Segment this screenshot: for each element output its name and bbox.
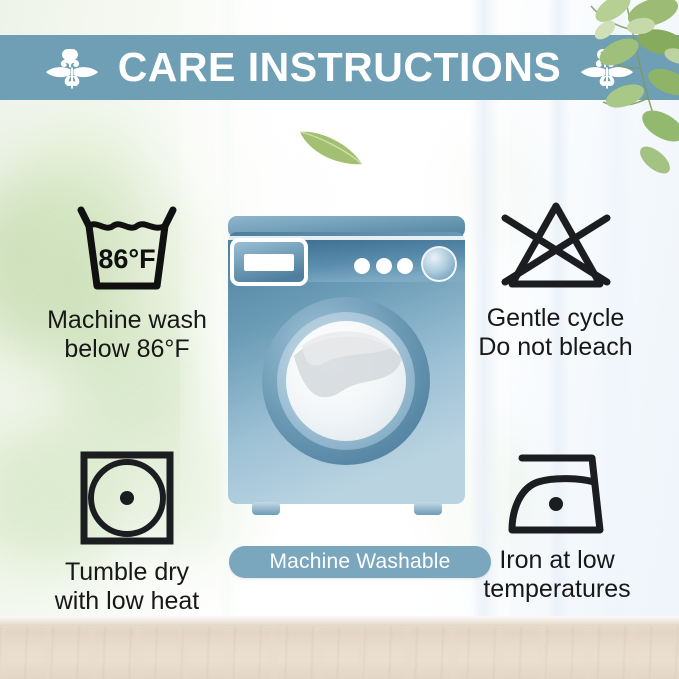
- badge-label: Machine Washable: [269, 550, 450, 574]
- table-edge-highlight: [0, 616, 679, 626]
- detergent-drawer-slot: [244, 254, 294, 271]
- indicator-light: [397, 258, 413, 274]
- machine-wash-symbol-wrapper: 86°F: [22, 196, 232, 296]
- care-symbol-iron-low: Iron at low temperatures: [448, 448, 666, 604]
- care-symbol-tumble-dry: Tumble dry with low heat: [22, 448, 232, 616]
- bleach-symbol-wrapper: [448, 196, 663, 296]
- tumble-dry-square-circle-icon: [77, 448, 177, 548]
- wood-grain-texture: [0, 626, 679, 679]
- bleach-caption: Gentle cycle Do not bleach: [448, 304, 663, 362]
- floating-leaf-decoration-icon: [296, 122, 366, 170]
- tumble-dry-caption: Tumble dry with low heat: [22, 558, 232, 616]
- wash-basin-icon: 86°F: [67, 196, 187, 296]
- washer-foot: [252, 502, 280, 515]
- indicator-light: [354, 258, 370, 274]
- care-instructions-graphic: CARE INSTRUCTIONS: [0, 0, 679, 679]
- tumble-dry-symbol-wrapper: [22, 448, 232, 548]
- iron-symbol-wrapper: [448, 448, 666, 540]
- washer-foot: [414, 502, 442, 515]
- page-title: CARE INSTRUCTIONS: [118, 44, 562, 91]
- green-leaves-decoration-icon: [505, 0, 679, 205]
- iron-one-dot-icon: [496, 448, 618, 540]
- indicator-light: [376, 258, 392, 274]
- triangle-crossed-bleach-icon: [495, 196, 617, 296]
- care-symbol-machine-wash: 86°F Machine wash below 86°F: [22, 196, 232, 364]
- fleur-de-lis-ornament-left-icon: [44, 45, 100, 91]
- machine-wash-caption: Machine wash below 86°F: [22, 306, 232, 364]
- wash-temperature-label: 86°F: [98, 244, 155, 274]
- status-badge: Machine Washable: [229, 546, 491, 578]
- care-symbol-do-not-bleach: Gentle cycle Do not bleach: [448, 196, 663, 362]
- washing-machine-illustration: [224, 206, 469, 536]
